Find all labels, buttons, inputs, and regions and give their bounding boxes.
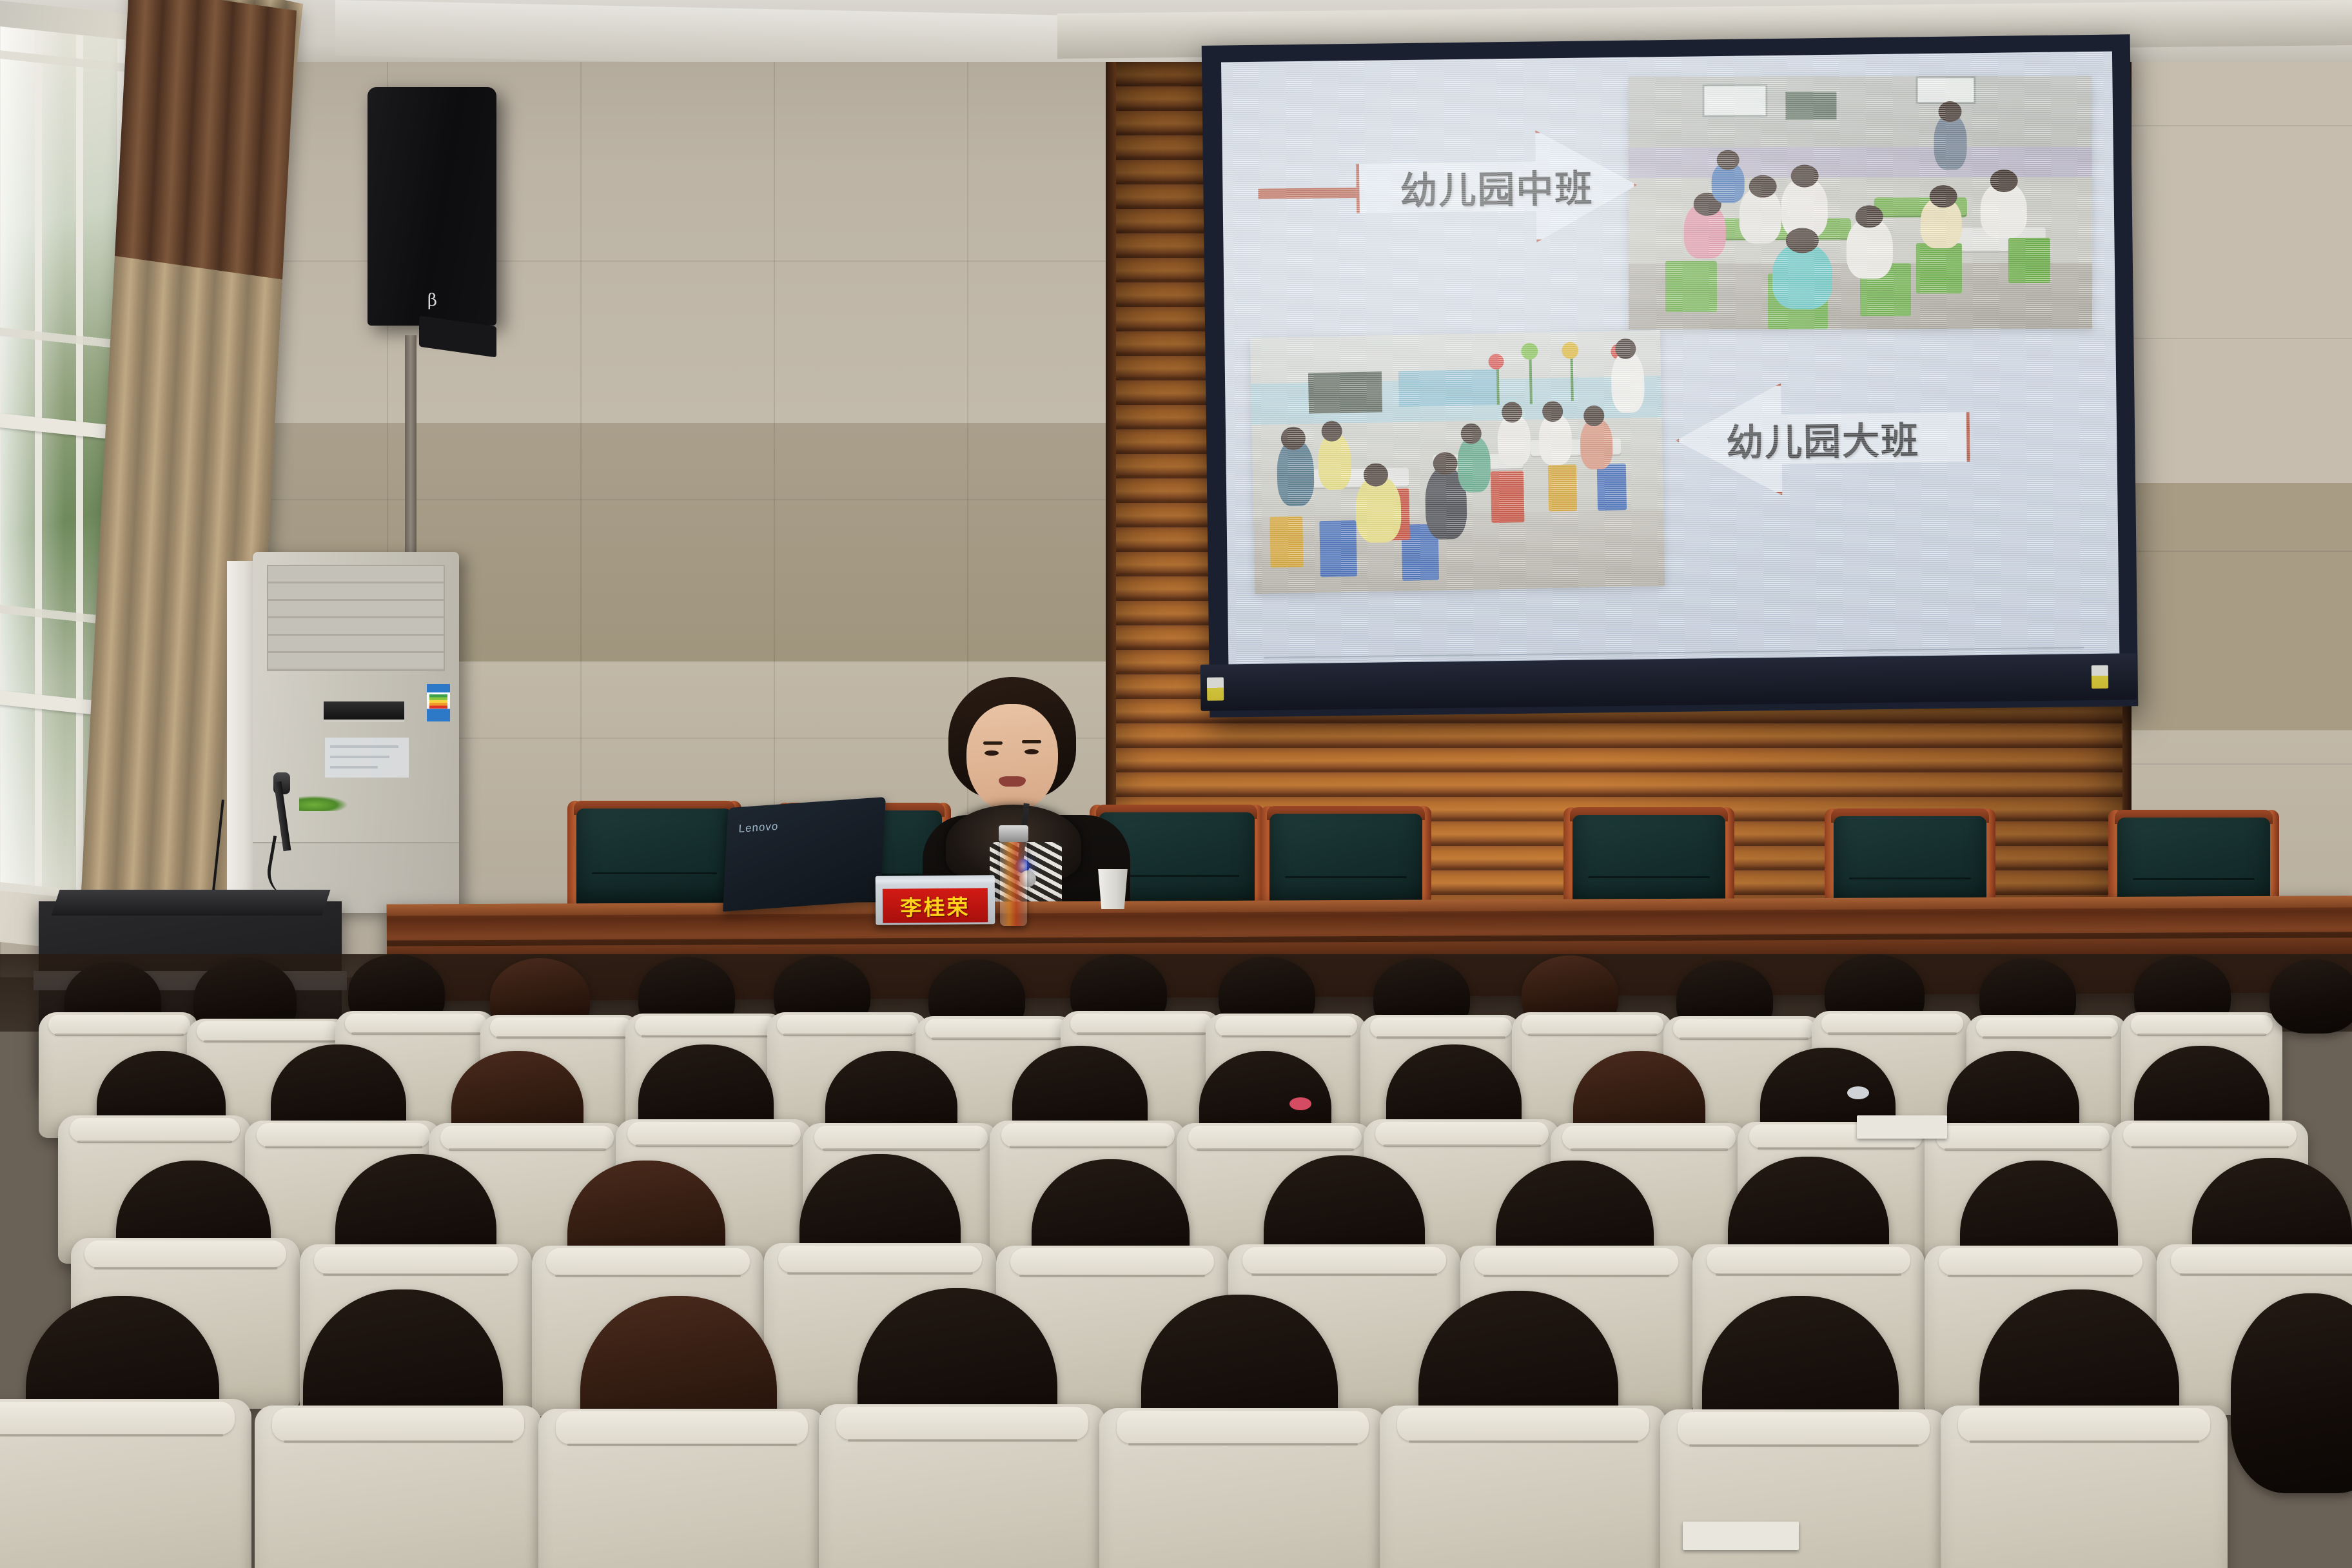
ac-notice-line — [330, 745, 398, 748]
kids-chair — [1319, 520, 1357, 577]
audience-chair — [538, 1409, 825, 1568]
child-standing — [1934, 114, 1966, 170]
audience-chair — [1099, 1408, 1386, 1568]
wall-speaker: β — [367, 87, 496, 326]
chair-seam — [1285, 876, 1407, 878]
chair-seam — [1588, 876, 1710, 878]
child-head — [1990, 170, 2017, 192]
arrow-label-top: 幼儿园中班 — [1400, 159, 1594, 215]
notebook — [1857, 1115, 1947, 1139]
classroom-window — [1702, 84, 1767, 117]
audience-head — [2269, 959, 2352, 1034]
ac-notice-line — [330, 766, 378, 769]
arrow-callout-top: 幼儿园中班 — [1356, 129, 1638, 245]
child-head — [1930, 185, 1957, 208]
child-head — [1280, 426, 1306, 449]
child-head — [1790, 165, 1818, 188]
speaker-support-pole — [405, 335, 416, 554]
screen-corner-tab-left — [1207, 677, 1224, 700]
name-plate-red-card: 李桂荣 — [883, 888, 988, 923]
slide-photo-middle-class — [1628, 76, 2092, 329]
audience-chair — [1380, 1406, 1667, 1568]
classroom-cabinet — [1398, 369, 1498, 406]
child-head — [1502, 402, 1522, 422]
kids-chair — [1548, 465, 1578, 511]
classroom-window-2 — [1916, 76, 1975, 104]
teacher-head — [1615, 338, 1636, 359]
child-head — [1716, 150, 1739, 170]
presenter-brow-right — [1022, 740, 1041, 743]
child-head — [1786, 228, 1818, 253]
wall-flower — [1489, 353, 1504, 369]
stage-chair — [567, 801, 741, 912]
curtain-valance — [115, 0, 297, 279]
projection-screen-frame: 幼儿园中班 幼儿园大班 — [1202, 34, 2139, 718]
kids-chair — [2008, 238, 2050, 284]
hair-clip — [1847, 1086, 1869, 1099]
projection-screen-surface: 幼儿园中班 幼儿园大班 — [1221, 52, 2120, 687]
av-case-lid — [52, 890, 331, 916]
ac-vent-grille — [267, 565, 445, 671]
classroom-wall-band — [1628, 146, 2092, 177]
kids-chair — [1270, 516, 1304, 567]
ac-notice-line — [330, 756, 389, 758]
head-table-shadow-line — [387, 932, 2352, 946]
arrow-callout-bottom: 幼儿园大班 — [1675, 381, 1970, 497]
presenter-eye-right — [1024, 749, 1039, 754]
child-head — [1856, 205, 1883, 228]
slide-photo-senior-class — [1250, 330, 1665, 594]
name-plate-text: 李桂荣 — [900, 890, 970, 921]
child-figure — [1539, 414, 1573, 465]
child-head — [1749, 175, 1776, 197]
stage-chair — [1260, 806, 1431, 914]
thermos-bottle — [1000, 838, 1027, 926]
chair-seam — [592, 872, 717, 874]
hair-tie — [1289, 1097, 1311, 1110]
chair-seam — [1849, 877, 1971, 879]
ac-decal-icon — [299, 796, 348, 811]
arrow-shape-right: 幼儿园中班 — [1356, 129, 1638, 245]
classroom-board — [1786, 92, 1837, 119]
kids-chair — [1665, 261, 1716, 312]
audience-chair — [819, 1404, 1106, 1568]
presenter-eye-left — [985, 750, 999, 756]
child-figure — [1457, 436, 1491, 493]
wall-flower — [1521, 342, 1538, 359]
audience-seating — [0, 954, 2352, 1568]
notebook — [1683, 1522, 1799, 1550]
ac-energy-label — [427, 684, 450, 721]
chair-seam — [2133, 878, 2255, 880]
child-figure — [1318, 433, 1352, 490]
chair-backrest — [1269, 814, 1422, 914]
kids-chair — [1597, 464, 1627, 510]
classroom-board — [1308, 371, 1383, 414]
speaker-logo-icon: β — [427, 291, 436, 310]
paper-cup — [1096, 869, 1130, 909]
auditorium-scene: β — [0, 0, 2352, 1568]
arrow-label-bottom: 幼儿园大班 — [1726, 411, 1920, 467]
audience-chair — [1941, 1406, 2228, 1568]
laptop-brand-label: Lenovo — [738, 820, 779, 836]
chair-backrest — [576, 808, 732, 912]
child-head — [1939, 101, 1962, 121]
presenter-mouth — [999, 776, 1026, 787]
arrow-shape-left: 幼儿园大班 — [1675, 381, 1970, 497]
presenter-face — [966, 704, 1058, 812]
presenter-brow-left — [983, 741, 1003, 745]
ac-display — [324, 701, 404, 722]
screen-corner-tab-right — [2092, 665, 2108, 689]
audience-chair — [0, 1399, 251, 1568]
ac-energy-bars — [429, 694, 447, 709]
audience-chair — [255, 1406, 542, 1568]
kids-chair — [1916, 243, 1962, 294]
laptop[interactable]: Lenovo — [723, 797, 886, 912]
ac-notice-paper — [325, 738, 409, 778]
kids-chair — [1491, 471, 1524, 522]
name-plate: 李桂荣 — [876, 875, 995, 925]
thermos-cap — [999, 825, 1028, 842]
